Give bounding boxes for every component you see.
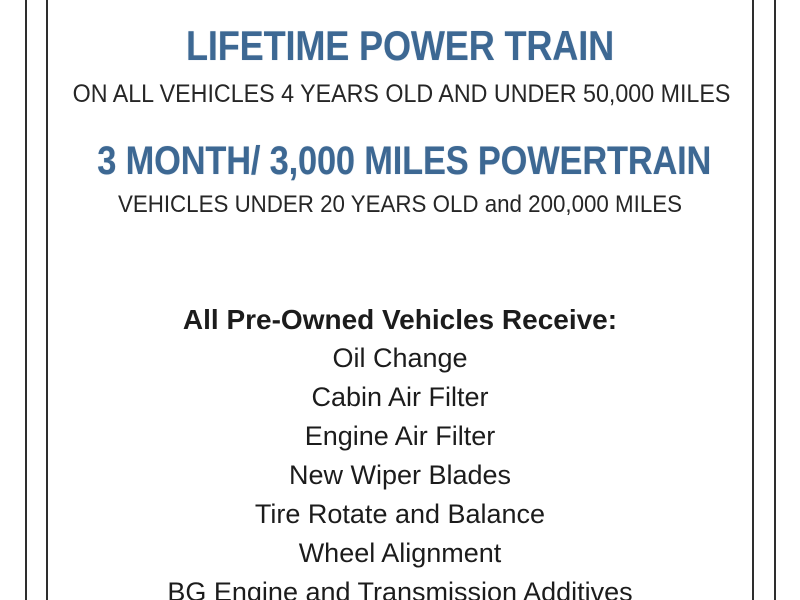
lifetime-powertrain-subtitle: ON ALL VEHICLES 4 YEARS OLD AND UNDER 50… [73,82,728,107]
right-outer-rule [774,0,776,600]
lifetime-powertrain-headline: LIFETIME POWER TRAIN [97,25,702,67]
warranty-flyer: LIFETIME POWER TRAIN ON ALL VEHICLES 4 Y… [0,0,800,600]
list-item: Engine Air Filter [48,417,752,456]
list-item: Wheel Alignment [48,534,752,573]
right-inner-rule [752,0,754,600]
list-item: Tire Rotate and Balance [48,495,752,534]
list-item: New Wiper Blades [48,456,752,495]
left-outer-rule [25,0,27,600]
services-list: Oil Change Cabin Air Filter Engine Air F… [48,339,752,600]
three-month-powertrain-headline: 3 MONTH/ 3,000 MILES POWERTRAIN [97,141,702,181]
flyer-content: LIFETIME POWER TRAIN ON ALL VEHICLES 4 Y… [48,0,752,600]
services-heading: All Pre-Owned Vehicles Receive: [48,300,752,339]
list-item: BG Engine and Transmission Additives [48,573,752,600]
three-month-powertrain-subtitle: VEHICLES UNDER 20 YEARS OLD and 200,000 … [73,193,728,217]
services-section: All Pre-Owned Vehicles Receive: Oil Chan… [48,300,752,600]
list-item: Oil Change [48,339,752,378]
list-item: Cabin Air Filter [48,378,752,417]
